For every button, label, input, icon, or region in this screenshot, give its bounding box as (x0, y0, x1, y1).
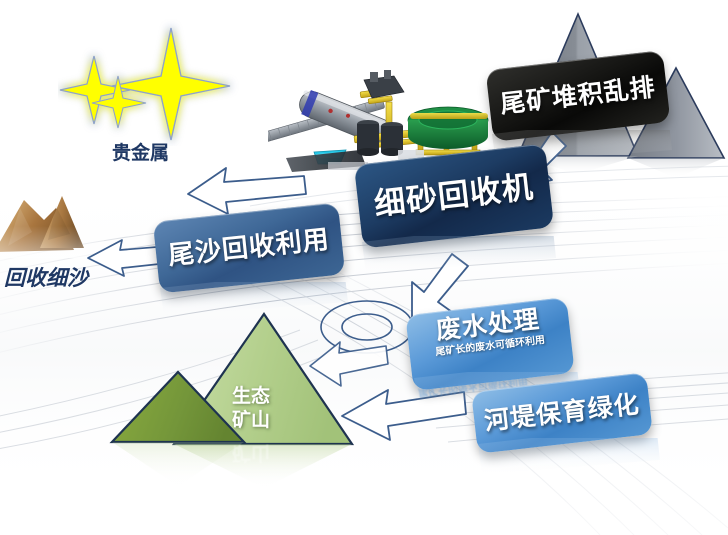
slide-canvas: 生态 矿山 矿山 (0, 0, 728, 535)
plate-tailings-title: 尾矿堆积乱排 (499, 74, 657, 118)
recycled-sand-caption: 回收细沙 (4, 262, 88, 292)
sparkle-star-icon (58, 18, 240, 146)
eco-mountain-label: 生态 矿山 (232, 385, 270, 433)
plate-river-title: 河堤保育绿化 (483, 391, 641, 435)
eco-mountain-label-reflection: 矿山 (232, 440, 270, 464)
plate-machine-reflection (352, 236, 562, 278)
eco-mountain-line1: 生态 (232, 385, 270, 409)
plate-reuse-title: 尾沙回收利用 (167, 226, 331, 270)
plate-river-reflection (468, 438, 664, 480)
plate-machine-title: 细砂回收机 (373, 171, 536, 221)
arrow-river-to-eco (306, 336, 390, 400)
plate-reuse-reflection (150, 282, 352, 322)
precious-metal-caption: 贵金属 (112, 138, 169, 165)
eco-mountain-reflect-line1: 矿山 (232, 440, 270, 464)
eco-mountain-line2: 矿山 (232, 409, 270, 433)
